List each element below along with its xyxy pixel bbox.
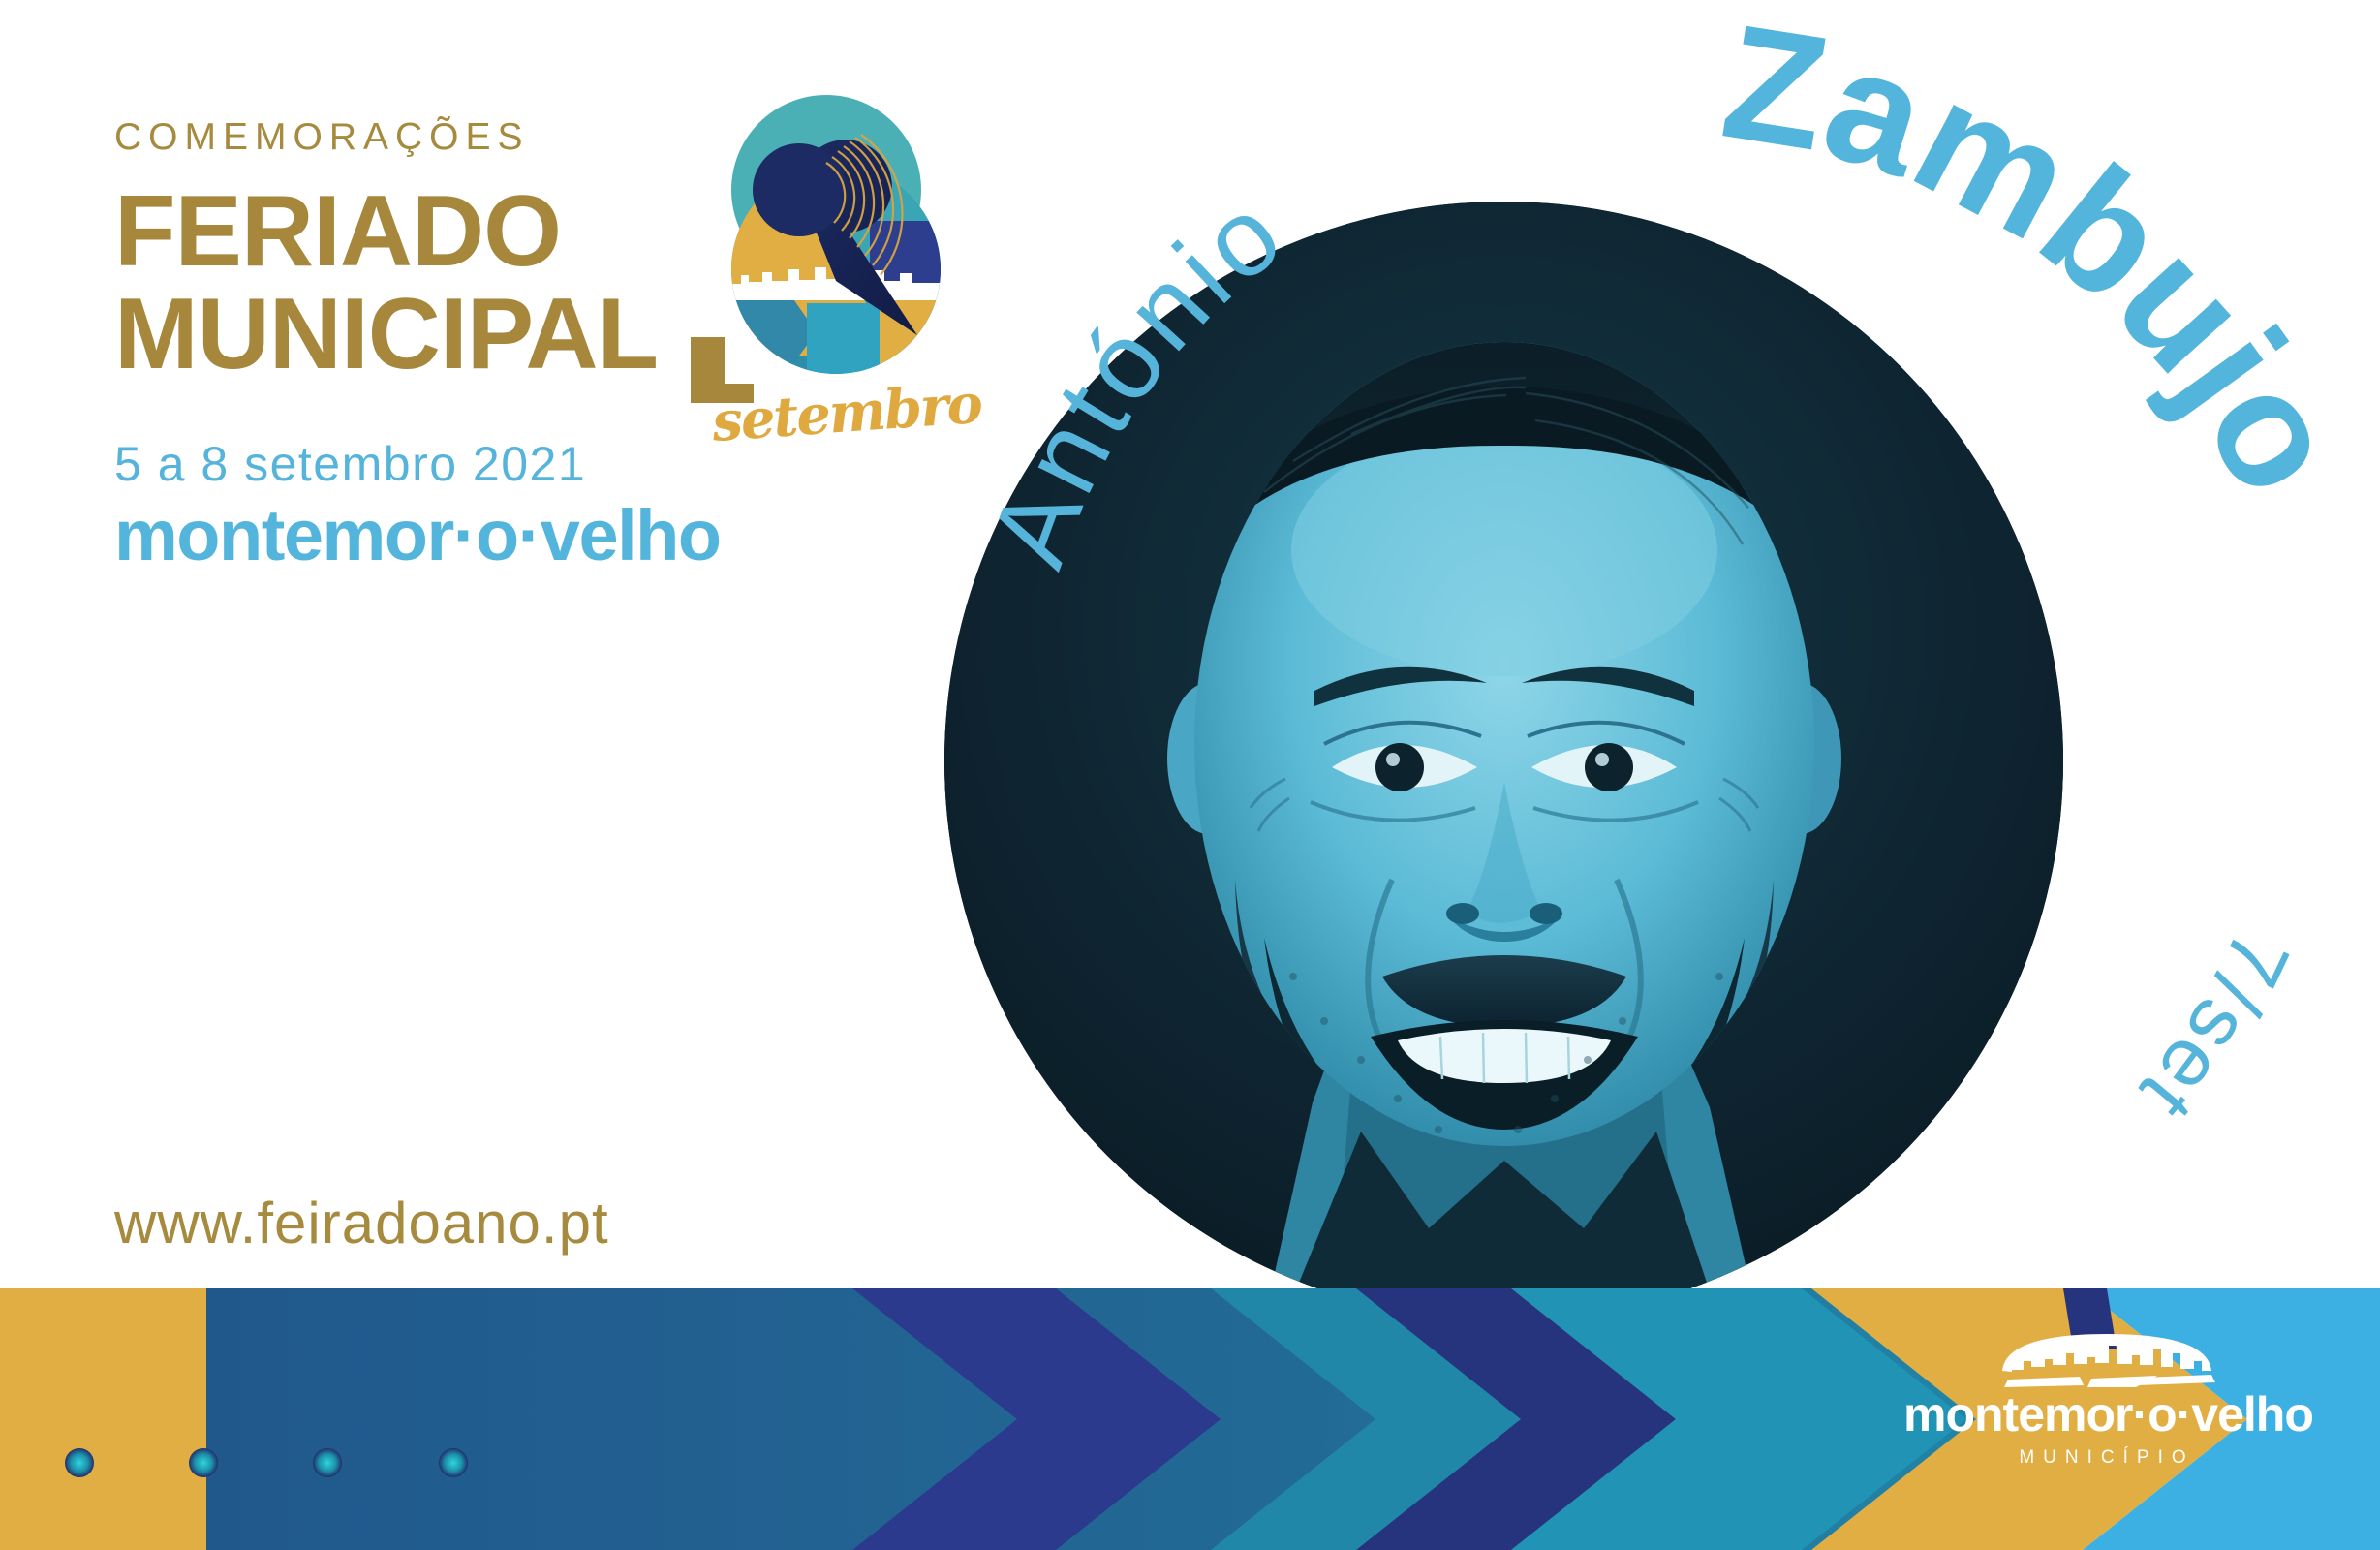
artist-portrait <box>944 201 2063 1320</box>
event-poster: COMEMORAÇÕES FERIADO MUNICIPAL 5 a 8 set… <box>0 0 2380 1550</box>
municipality-logo: montemor·o·velho MUNICÍPIO <box>1903 1332 2310 1492</box>
eyebrow-label: COMEMORAÇÕES <box>114 116 721 159</box>
municipality-name: montemor·o·velho <box>1903 1390 2310 1439</box>
city-name: montemor·o·velho <box>114 494 721 576</box>
banner-dot <box>439 1448 468 1477</box>
website-url[interactable]: www.feiradoano.pt <box>114 1190 609 1256</box>
banner-dot <box>313 1448 342 1477</box>
banner-dot <box>189 1448 218 1477</box>
portrait-image <box>944 201 2063 1320</box>
event-title-block: COMEMORAÇÕES FERIADO MUNICIPAL 5 a 8 set… <box>114 116 721 576</box>
castle-skyline-icon <box>1991 1332 2223 1392</box>
event-dates: 5 a 8 setembro 2021 <box>114 436 721 492</box>
banner-dot <box>65 1448 94 1477</box>
show-date: 7/set <box>2121 918 2306 1138</box>
municipality-subtitle: MUNICÍPIO <box>1903 1447 2310 1469</box>
festival-keyhole-emblem-icon: setembro <box>691 76 981 444</box>
title-line-2: MUNICIPAL <box>114 283 721 386</box>
title-line-1: FERIADO <box>114 180 721 283</box>
